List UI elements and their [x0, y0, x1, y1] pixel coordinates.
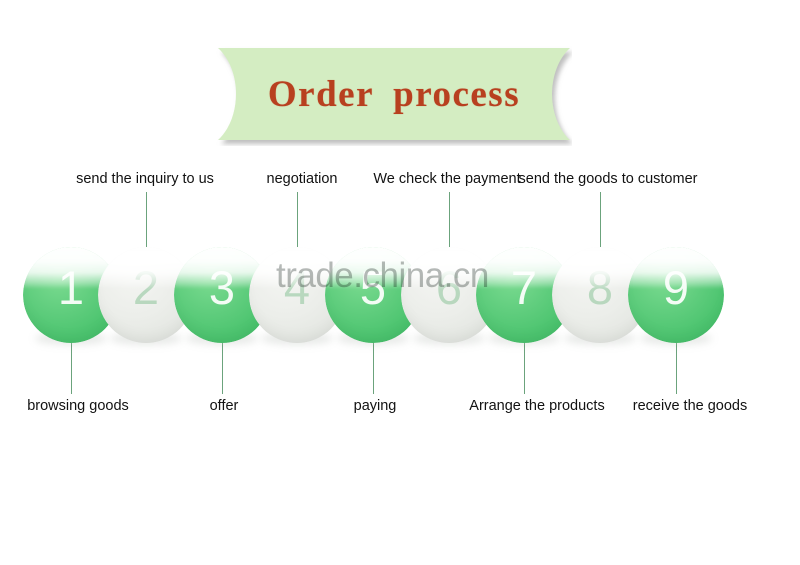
step-label-6: We check the payment	[373, 171, 520, 187]
step-label-1: browsing goods	[27, 398, 129, 414]
step-label-5: paying	[354, 398, 397, 414]
step-label-7: Arrange the products	[469, 398, 604, 414]
step-ball-9[interactable]: 9	[628, 247, 724, 343]
order-process-infographic: Order process 1browsing goods2send the i…	[0, 0, 800, 565]
step-label-4: negotiation	[267, 171, 338, 187]
step-label-2: send the inquiry to us	[76, 171, 214, 187]
step-label-8: send the goods to customer	[519, 171, 698, 187]
step-label-3: offer	[210, 398, 239, 414]
ball-inner-shade	[628, 247, 724, 343]
step-label-9: receive the goods	[633, 398, 747, 414]
steps-row: 1browsing goods2send the inquiry to us3o…	[0, 0, 800, 565]
